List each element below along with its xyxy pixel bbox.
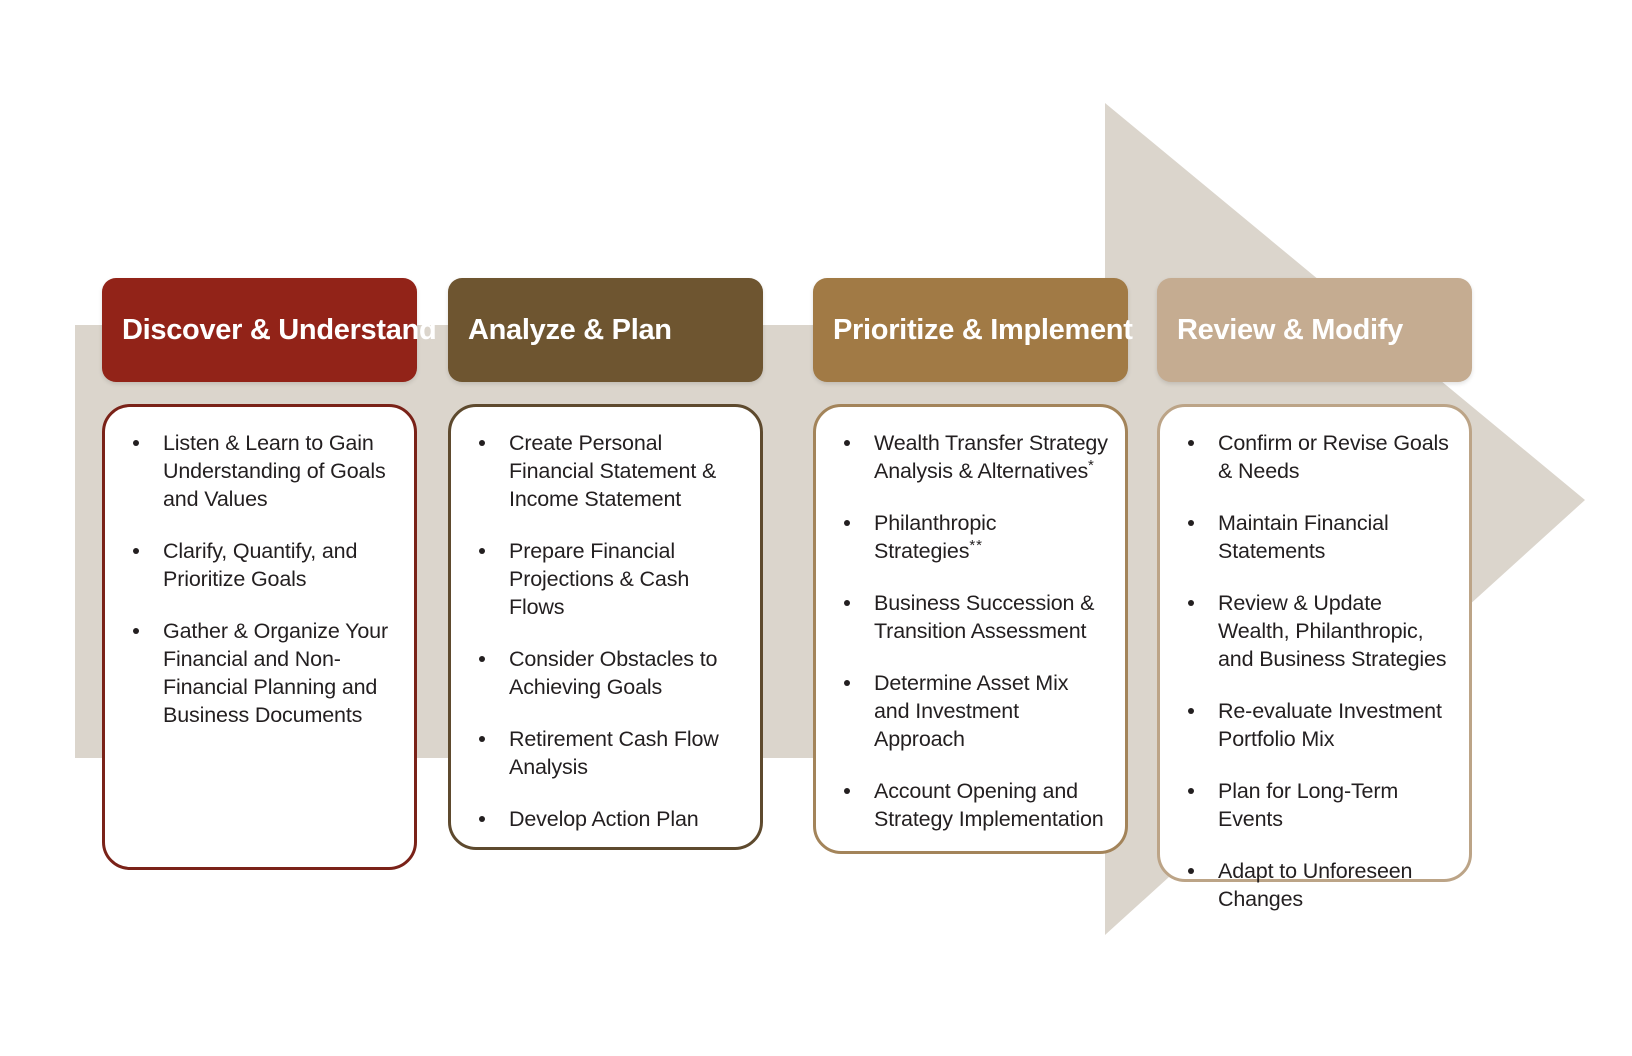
list-item-text: Prepare Financial Projections & Cash Flo… [509, 539, 689, 619]
footnote-marker: ** [969, 537, 983, 554]
bullet-dot-icon [844, 600, 850, 606]
list-item: Philanthropic Strategies** [830, 509, 1109, 565]
list-item-text: Review & Update Wealth, Philanthropic, a… [1218, 591, 1446, 671]
list-item-text: Clarify, Quantify, and Prioritize Goals [163, 539, 357, 591]
phase-column-discover-understand: Discover & Understand Listen & Learn to … [102, 278, 417, 870]
phase-header-prioritize-implement[interactable]: Prioritize & Implement [813, 278, 1128, 382]
phase-item-list-analyze-plan: Create Personal Financial Statement & In… [465, 429, 744, 833]
bullet-dot-icon [133, 628, 139, 634]
list-item: Retirement Cash Flow Analysis [465, 725, 744, 781]
list-item: Wealth Transfer Strategy Analysis & Alte… [830, 429, 1109, 485]
phase-column-analyze-plan: Analyze & Plan Create Personal Financial… [448, 278, 763, 850]
list-item-text: Confirm or Revise Goals & Needs [1218, 431, 1449, 483]
list-item: Re-evaluate Investment Portfolio Mix [1174, 697, 1453, 753]
phase-title-analyze-plan: Analyze & Plan [468, 315, 672, 345]
list-item-text: Wealth Transfer Strategy Analysis & Alte… [874, 431, 1108, 483]
phase-title-review-modify: Review & Modify [1177, 315, 1403, 345]
phase-header-review-modify[interactable]: Review & Modify [1157, 278, 1472, 382]
list-item-text: Determine Asset Mix and Investment Appro… [874, 671, 1068, 751]
bullet-dot-icon [1188, 788, 1194, 794]
phase-column-prioritize-implement: Prioritize & Implement Wealth Transfer S… [813, 278, 1128, 854]
bullet-dot-icon [479, 548, 485, 554]
list-item-text: Re-evaluate Investment Portfolio Mix [1218, 699, 1442, 751]
list-item-text: Plan for Long-Term Events [1218, 779, 1398, 831]
list-item-text: Gather & Organize Your Financial and Non… [163, 619, 388, 727]
list-item: Maintain Financial Statements [1174, 509, 1453, 565]
bullet-dot-icon [479, 736, 485, 742]
footnote-marker: * [1088, 457, 1095, 474]
list-item-text: Consider Obstacles to Achieving Goals [509, 647, 717, 699]
bullet-dot-icon [1188, 520, 1194, 526]
phase-header-discover-understand[interactable]: Discover & Understand [102, 278, 417, 382]
list-item: Develop Action Plan [465, 805, 744, 833]
list-item: Account Opening and Strategy Implementat… [830, 777, 1109, 833]
list-item: Determine Asset Mix and Investment Appro… [830, 669, 1109, 753]
list-item-text: Create Personal Financial Statement & In… [509, 431, 716, 511]
list-item: Gather & Organize Your Financial and Non… [119, 617, 398, 729]
list-item-text: Listen & Learn to Gain Understanding of … [163, 431, 386, 511]
bullet-dot-icon [844, 680, 850, 686]
list-item: Consider Obstacles to Achieving Goals [465, 645, 744, 701]
bullet-dot-icon [1188, 708, 1194, 714]
list-item: Confirm or Revise Goals & Needs [1174, 429, 1453, 485]
bullet-dot-icon [1188, 868, 1194, 874]
phase-card-prioritize-implement: Wealth Transfer Strategy Analysis & Alte… [813, 404, 1128, 854]
phase-column-review-modify: Review & Modify Confirm or Revise Goals … [1157, 278, 1472, 882]
list-item-text: Business Succession & Transition Assessm… [874, 591, 1094, 643]
bullet-dot-icon [479, 816, 485, 822]
list-item: Plan for Long-Term Events [1174, 777, 1453, 833]
list-item: Prepare Financial Projections & Cash Flo… [465, 537, 744, 621]
bullet-dot-icon [844, 788, 850, 794]
bullet-dot-icon [479, 440, 485, 446]
bullet-dot-icon [1188, 440, 1194, 446]
bullet-dot-icon [479, 656, 485, 662]
phase-title-prioritize-implement: Prioritize & Implement [833, 315, 1133, 345]
bullet-dot-icon [1188, 600, 1194, 606]
bullet-dot-icon [133, 440, 139, 446]
phase-columns: Discover & Understand Listen & Learn to … [0, 0, 1632, 1056]
bullet-dot-icon [844, 440, 850, 446]
list-item: Business Succession & Transition Assessm… [830, 589, 1109, 645]
phase-item-list-review-modify: Confirm or Revise Goals & Needs Maintain… [1174, 429, 1453, 913]
list-item: Review & Update Wealth, Philanthropic, a… [1174, 589, 1453, 673]
list-item: Adapt to Unforeseen Changes [1174, 857, 1453, 913]
bullet-dot-icon [844, 520, 850, 526]
list-item: Listen & Learn to Gain Understanding of … [119, 429, 398, 513]
list-item-text: Maintain Financial Statements [1218, 511, 1389, 563]
phase-header-analyze-plan[interactable]: Analyze & Plan [448, 278, 763, 382]
list-item-text: Develop Action Plan [509, 807, 699, 831]
list-item: Clarify, Quantify, and Prioritize Goals [119, 537, 398, 593]
phase-card-review-modify: Confirm or Revise Goals & Needs Maintain… [1157, 404, 1472, 882]
process-diagram: Discover & Understand Listen & Learn to … [0, 0, 1632, 1056]
list-item-text: Adapt to Unforeseen Changes [1218, 859, 1412, 911]
list-item-text: Account Opening and Strategy Implementat… [874, 779, 1104, 831]
phase-item-list-prioritize-implement: Wealth Transfer Strategy Analysis & Alte… [830, 429, 1109, 833]
phase-card-discover-understand: Listen & Learn to Gain Understanding of … [102, 404, 417, 870]
phase-item-list-discover-understand: Listen & Learn to Gain Understanding of … [119, 429, 398, 729]
list-item: Create Personal Financial Statement & In… [465, 429, 744, 513]
list-item-text: Retirement Cash Flow Analysis [509, 727, 719, 779]
phase-title-discover-understand: Discover & Understand [122, 315, 436, 345]
phase-card-analyze-plan: Create Personal Financial Statement & In… [448, 404, 763, 850]
bullet-dot-icon [133, 548, 139, 554]
